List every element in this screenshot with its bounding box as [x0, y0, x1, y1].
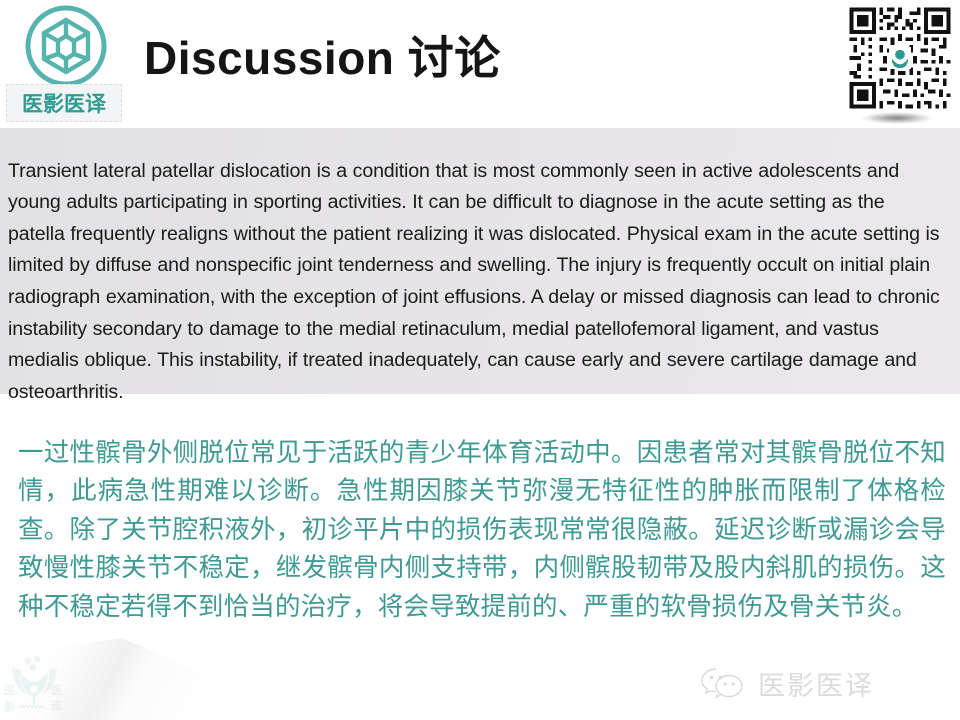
page-title-zh: 讨论	[408, 31, 501, 85]
page-title-en: Discussion	[144, 32, 394, 84]
footer-brand: 医影医译	[700, 660, 940, 706]
slide-canvas: 医影医译 Discussion 讨论	[0, 0, 960, 720]
svg-text:医: 医	[51, 684, 62, 697]
brand-wordmark: 医影医译	[6, 84, 122, 122]
english-paragraph: Transient lateral patellar dislocation i…	[8, 156, 942, 409]
footer-brand-label: 医影医译	[758, 664, 874, 703]
medical-lotus-emblem-icon: 医 医 影 译	[4, 652, 66, 716]
chinese-paragraph: 一过性髌骨外侧脱位常见于活跃的青少年体育活动中。因患者常对其髌骨脱位不知情，此病…	[18, 434, 946, 627]
svg-text:影: 影	[4, 699, 15, 713]
page-title: Discussion 讨论	[144, 22, 501, 88]
chinese-text-block: 一过性髌骨外侧脱位常见于活跃的青少年体育活动中。因患者常对其髌骨脱位不知情，此病…	[0, 400, 960, 630]
hexagon-cube-logo-icon	[18, 4, 114, 90]
svg-text:医: 医	[4, 684, 15, 697]
wechat-icon	[700, 665, 744, 701]
svg-text:译: 译	[51, 700, 63, 713]
slide-header: 医影医译 Discussion 讨论	[0, 0, 960, 128]
qr-code-shadow	[862, 112, 932, 124]
english-text-block: Transient lateral patellar dislocation i…	[0, 128, 960, 394]
qr-code-icon[interactable]	[846, 4, 954, 112]
